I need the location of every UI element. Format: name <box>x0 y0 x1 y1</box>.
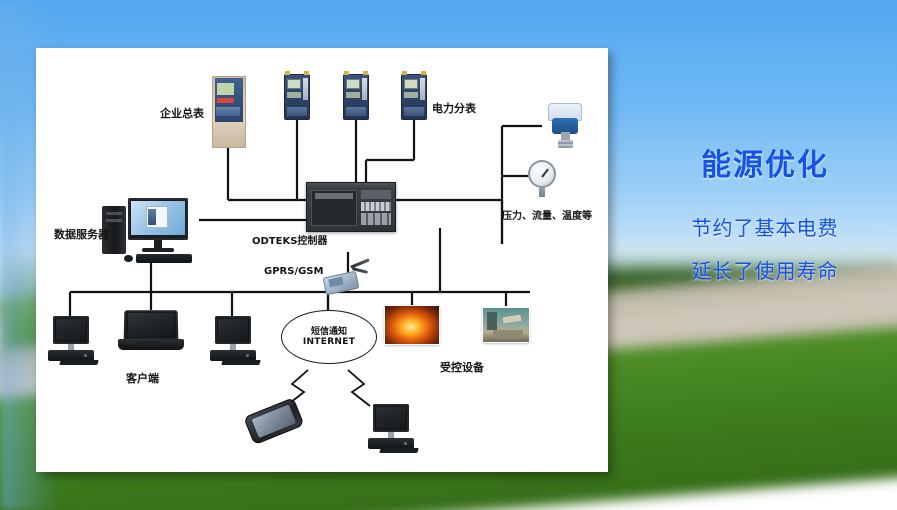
transmitter-thread <box>558 140 573 148</box>
data-server-device <box>102 198 198 264</box>
meter-tab-right <box>421 71 426 75</box>
controller-status-strip <box>361 190 391 199</box>
label-enterprise-meter: 企业总表 <box>160 108 204 121</box>
machinery-part <box>503 315 522 323</box>
screen <box>56 319 86 341</box>
power-submeter-device-3 <box>401 74 427 120</box>
diagram-panel: 企业总表 电力分表 压力、流量、温度等 <box>36 48 608 472</box>
meter-terminal-block <box>216 107 240 116</box>
controller-keypad <box>361 213 391 225</box>
power-led <box>404 442 407 445</box>
odteks-controller-device <box>306 182 396 232</box>
meter-side-strip <box>420 78 425 100</box>
screen <box>376 407 406 429</box>
meter-tab-left <box>402 71 407 75</box>
machinery-part <box>493 330 523 337</box>
gauge-stem <box>539 187 545 197</box>
label-power-submeter: 电力分表 <box>432 103 476 116</box>
label-controller: ODTEKS控制器 <box>252 236 327 248</box>
keyboard <box>379 448 419 453</box>
controller-nameplate <box>315 193 353 199</box>
meter-terminal-block <box>404 107 424 116</box>
label-data-server: 数据服务器 <box>54 229 109 242</box>
screen <box>218 319 248 341</box>
controlled-equipment-furnace-photo <box>385 306 439 344</box>
headline: 能源优化 <box>640 140 890 184</box>
meter-terminal-block <box>346 107 366 116</box>
client-desktop-1 <box>46 316 96 364</box>
cloud-line-2: INTERNET <box>282 337 376 347</box>
mouse <box>124 255 133 262</box>
benefit-line-1: 节约了基本电费 <box>640 212 890 241</box>
meter-tab-left <box>285 71 290 75</box>
cloud-line-1: 短信通知 <box>282 324 376 337</box>
power-led <box>246 354 249 357</box>
meter-display <box>346 79 360 89</box>
label-client: 客户端 <box>126 373 159 386</box>
controlled-equipment-machinery-photo <box>483 308 529 342</box>
client-desktop-2 <box>208 316 258 364</box>
label-controlled-equipment: 受控设备 <box>440 362 484 375</box>
keyboard <box>136 254 192 263</box>
label-gprs-gsm: GPRS/GSM <box>264 266 323 278</box>
meter-display <box>217 83 234 95</box>
power-led <box>84 354 87 357</box>
meter-side-strip <box>362 78 367 100</box>
meter-display <box>404 79 418 89</box>
machinery-part <box>487 312 497 330</box>
keyboard <box>59 360 99 365</box>
server-screen-window <box>146 206 168 228</box>
pressure-transmitter-device <box>538 103 592 149</box>
controller-terminal-row <box>361 202 391 211</box>
server-drive-bay <box>106 219 122 222</box>
monitor-base <box>142 248 174 252</box>
laptop-touchpad <box>142 341 160 346</box>
power-submeter-device-1 <box>284 74 310 120</box>
meter-subdisplay <box>287 92 301 98</box>
meter-subdisplay <box>404 92 418 98</box>
internet-cloud: 短信通知 INTERNET <box>281 310 377 364</box>
client-laptop <box>118 310 184 354</box>
pressure-gauge-device <box>528 160 558 198</box>
gprs-modem-device <box>324 260 368 296</box>
enterprise-meter-device <box>212 76 246 148</box>
marketing-copy: 能源优化 节约了基本电费 延长了使用寿命 <box>640 140 890 284</box>
meter-tab-left <box>344 71 349 75</box>
meter-tab-right <box>363 71 368 75</box>
laptop-screen <box>128 313 174 337</box>
label-sensors: 压力、流量、温度等 <box>502 211 592 223</box>
benefit-line-2: 延长了使用寿命 <box>640 255 890 284</box>
keyboard <box>221 360 261 365</box>
meter-indicator <box>217 98 234 103</box>
meter-terminal-block <box>287 107 307 116</box>
remote-client-desktop <box>366 404 416 452</box>
meter-subdisplay <box>346 92 360 98</box>
meter-tab-right <box>304 71 309 75</box>
meter-side-strip <box>303 78 308 100</box>
server-drive-bay <box>106 212 122 215</box>
meter-display <box>287 79 301 89</box>
power-submeter-device-2 <box>343 74 369 120</box>
